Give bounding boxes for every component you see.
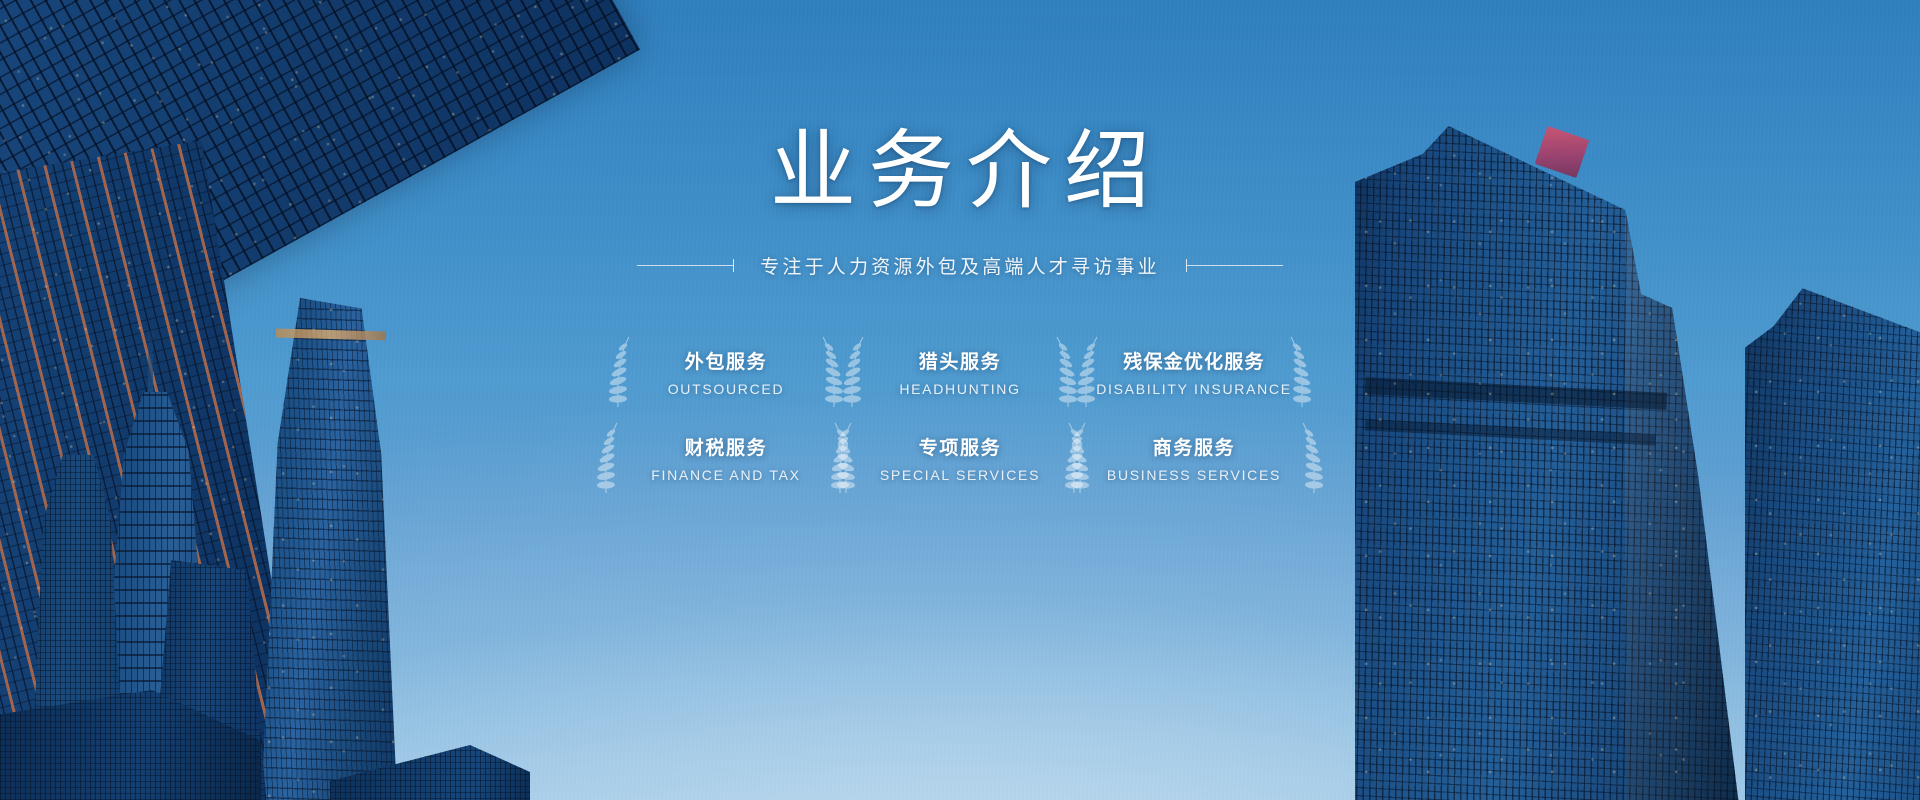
laurel-wreath-icon <box>608 335 638 409</box>
service-name-en: SPECIAL SERVICES <box>880 467 1040 483</box>
divider-line-left-icon <box>637 259 734 272</box>
service-badge[interactable]: 财税服务 FINANCE AND TAX <box>610 417 842 499</box>
service-name-cn: 残保金优化服务 <box>1123 347 1264 374</box>
page-subtitle: 专注于人力资源外包及高端人才寻访事业 <box>760 252 1160 279</box>
service-name-en: DISABILITY INSURANCE <box>1096 381 1292 397</box>
service-name-en: FINANCE AND TAX <box>651 467 800 483</box>
service-badge[interactable]: 猎头服务 HEADHUNTING <box>844 331 1076 413</box>
service-name-en: BUSINESS SERVICES <box>1107 467 1281 483</box>
laurel-wreath-icon <box>1282 335 1312 409</box>
service-name-cn: 外包服务 <box>685 347 767 374</box>
service-name-cn: 专项服务 <box>919 433 1001 460</box>
laurel-wreath-icon <box>1064 421 1094 495</box>
laurel-wreath-icon <box>1294 421 1324 495</box>
hero-banner: 业务介绍 专注于人力资源外包及高端人才寻访事业 外包服务 OUTSOURCED … <box>0 0 1920 800</box>
laurel-wreath-icon <box>830 421 860 495</box>
service-name-cn: 财税服务 <box>685 433 767 460</box>
service-name-cn: 商务服务 <box>1153 433 1235 460</box>
service-badge[interactable]: 商务服务 BUSINESS SERVICES <box>1078 417 1310 499</box>
service-badge-grid: 外包服务 OUTSOURCED 猎头服务 HEADHUNTING 残保金优化服务… <box>610 331 1310 499</box>
divider-line-right-icon <box>1186 259 1283 272</box>
subtitle-row: 专注于人力资源外包及高端人才寻访事业 <box>637 252 1283 279</box>
hero-content: 业务介绍 专注于人力资源外包及高端人才寻访事业 外包服务 OUTSOURCED … <box>0 0 1920 800</box>
laurel-wreath-icon <box>596 421 626 495</box>
page-title: 业务介绍 <box>758 128 1162 214</box>
service-name-en: HEADHUNTING <box>899 381 1020 397</box>
service-name-cn: 猎头服务 <box>919 347 1001 374</box>
laurel-wreath-icon <box>814 335 844 409</box>
service-badge[interactable]: 残保金优化服务 DISABILITY INSURANCE <box>1078 331 1310 413</box>
service-badge[interactable]: 外包服务 OUTSOURCED <box>610 331 842 413</box>
laurel-wreath-icon <box>1076 335 1106 409</box>
service-name-en: OUTSOURCED <box>668 381 785 397</box>
laurel-wreath-icon <box>1048 335 1078 409</box>
laurel-wreath-icon <box>842 335 872 409</box>
service-badge[interactable]: 专项服务 SPECIAL SERVICES <box>844 417 1076 499</box>
